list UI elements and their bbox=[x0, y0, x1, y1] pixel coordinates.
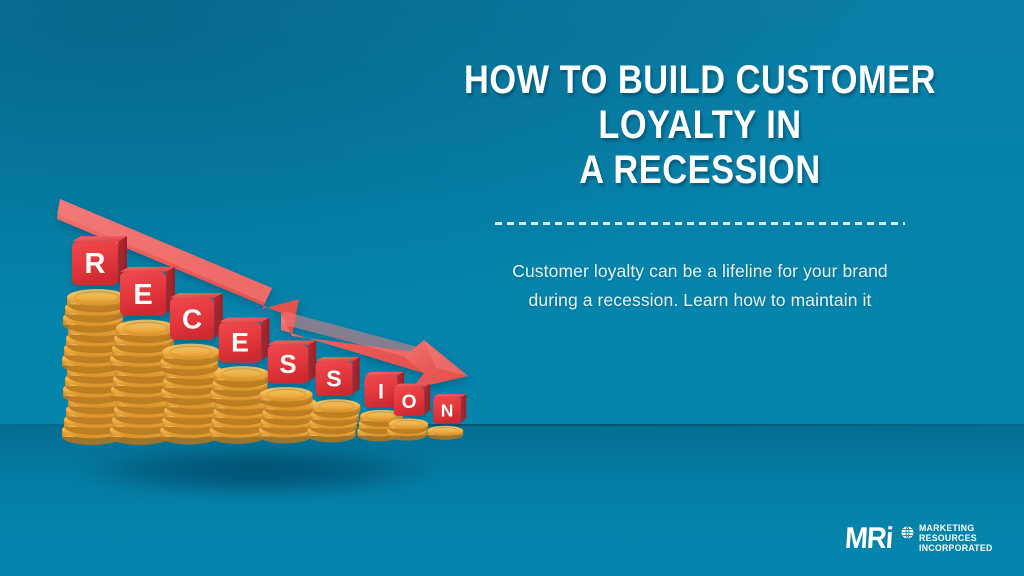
cube-letter: O bbox=[402, 392, 417, 413]
letter-cube-s: S bbox=[316, 357, 360, 396]
cube-letter: S bbox=[279, 351, 296, 379]
text-column: HOW TO BUILD CUSTOMER LOYALTY IN A RECES… bbox=[420, 58, 980, 314]
page-subtitle: Customer loyalty can be a lifeline for y… bbox=[420, 257, 980, 314]
cube-letter: S bbox=[326, 366, 341, 392]
cube-letter: N bbox=[441, 400, 454, 420]
cube-letter: I bbox=[378, 380, 384, 403]
coin-stack-n-8: N bbox=[427, 394, 466, 440]
page-title: HOW TO BUILD CUSTOMER LOYALTY IN A RECES… bbox=[459, 58, 941, 192]
coin-stack-s-4: S bbox=[259, 341, 317, 444]
logo-tagline: MARKETING RESOURCES INCORPORATED bbox=[919, 524, 996, 553]
letter-cube-e: E bbox=[219, 318, 270, 363]
letter-cube-r: R bbox=[72, 236, 127, 285]
letter-cube-c: C bbox=[170, 293, 223, 340]
globe-icon bbox=[901, 526, 914, 539]
letter-cube-s: S bbox=[268, 341, 316, 384]
cube-letter: R bbox=[85, 248, 106, 280]
letter-cube-n: N bbox=[433, 394, 466, 423]
letter-cube-e: E bbox=[120, 267, 175, 316]
poster-canvas: RECESSION HOW TO BUILD CUSTOMER LOYALTY … bbox=[0, 0, 1024, 576]
cube-letter: E bbox=[133, 279, 152, 311]
dashed-divider bbox=[495, 222, 905, 225]
cube-letter: E bbox=[231, 328, 249, 358]
letter-cube-o: O bbox=[394, 384, 430, 416]
logo-wordmark: MRi bbox=[844, 524, 893, 554]
logo-line-3: INCORPORATED bbox=[919, 544, 993, 554]
cube-letter: C bbox=[182, 304, 202, 335]
company-logo[interactable]: MRi MARKETING RESOURCES INCORPORATED bbox=[844, 524, 996, 554]
